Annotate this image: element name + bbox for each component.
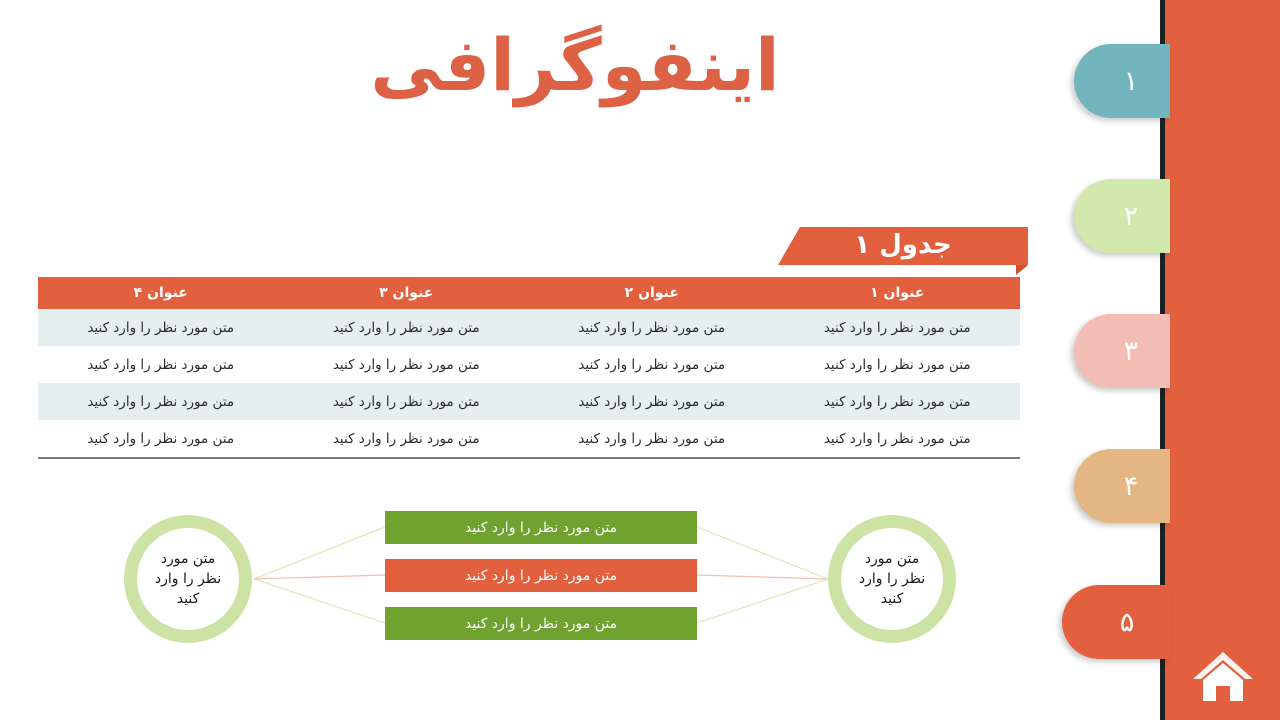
table-row: متن مورد نظر را وارد کنید متن مورد نظر ر… xyxy=(38,420,1020,458)
banner-fold-decoration xyxy=(1016,265,1028,275)
table-cell: متن مورد نظر را وارد کنید xyxy=(775,383,1021,420)
table-header: عنوان ۱ عنوان ۲ عنوان ۳ عنوان ۴ xyxy=(38,277,1020,309)
diagram-circle-left: متن مورد نظر را وارد کنید xyxy=(124,515,252,643)
sidebar-tab-3-label: ۳ xyxy=(1124,336,1139,367)
sidebar-tab-1-label: ۱ xyxy=(1124,66,1139,97)
table-banner: جدول ۱ xyxy=(778,227,1028,265)
table-column-header-1: عنوان ۱ xyxy=(775,277,1021,309)
table-cell: متن مورد نظر را وارد کنید xyxy=(38,309,284,346)
table-cell: متن مورد نظر را وارد کنید xyxy=(284,383,530,420)
table-cell: متن مورد نظر را وارد کنید xyxy=(38,383,284,420)
process-diagram: متن مورد نظر را وارد کنید متن مورد نظر ر… xyxy=(0,495,1040,675)
diagram-circle-right: متن مورد نظر را وارد کنید xyxy=(828,515,956,643)
home-icon[interactable] xyxy=(1190,648,1256,704)
sidebar-tab-5[interactable]: ۵ xyxy=(1062,585,1170,659)
slide-canvas: اینفوگرافی جدول ۱ عنوان ۱ عنوان ۲ عنوان … xyxy=(0,0,1280,720)
table-cell: متن مورد نظر را وارد کنید xyxy=(529,346,775,383)
page-title: اینفوگرافی xyxy=(0,22,1150,108)
table-column-header-4: عنوان ۴ xyxy=(38,277,284,309)
diagram-bar-1: متن مورد نظر را وارد کنید xyxy=(385,511,697,544)
sidebar-panel xyxy=(1165,0,1280,720)
table-cell: متن مورد نظر را وارد کنید xyxy=(775,420,1021,458)
table-row: متن مورد نظر را وارد کنید متن مورد نظر ر… xyxy=(38,346,1020,383)
table-row: متن مورد نظر را وارد کنید متن مورد نظر ر… xyxy=(38,309,1020,346)
table-cell: متن مورد نظر را وارد کنید xyxy=(775,309,1021,346)
sidebar-tab-2-label: ۲ xyxy=(1124,201,1139,232)
diagram-bar-3: متن مورد نظر را وارد کنید xyxy=(385,607,697,640)
table-cell: متن مورد نظر را وارد کنید xyxy=(529,420,775,458)
sidebar-tab-4-label: ۴ xyxy=(1124,471,1139,502)
table-cell: متن مورد نظر را وارد کنید xyxy=(284,420,530,458)
table-column-header-2: عنوان ۲ xyxy=(529,277,775,309)
table-cell: متن مورد نظر را وارد کنید xyxy=(38,346,284,383)
diagram-bar-2: متن مورد نظر را وارد کنید xyxy=(385,559,697,592)
table-header-row: عنوان ۱ عنوان ۲ عنوان ۳ عنوان ۴ xyxy=(38,277,1020,309)
sidebar-tab-1[interactable]: ۱ xyxy=(1074,44,1170,118)
data-table: عنوان ۱ عنوان ۲ عنوان ۳ عنوان ۴ متن مورد… xyxy=(38,277,1020,459)
table-row: متن مورد نظر را وارد کنید متن مورد نظر ر… xyxy=(38,383,1020,420)
table-cell: متن مورد نظر را وارد کنید xyxy=(284,309,530,346)
sidebar-tab-2[interactable]: ۲ xyxy=(1074,179,1170,253)
sidebar-tab-4[interactable]: ۴ xyxy=(1074,449,1170,523)
table-cell: متن مورد نظر را وارد کنید xyxy=(284,346,530,383)
sidebar-tab-5-label: ۵ xyxy=(1120,607,1135,638)
table-body: متن مورد نظر را وارد کنید متن مورد نظر ر… xyxy=(38,309,1020,458)
sidebar-tab-3[interactable]: ۳ xyxy=(1074,314,1170,388)
table-column-header-3: عنوان ۳ xyxy=(284,277,530,309)
table-cell: متن مورد نظر را وارد کنید xyxy=(529,383,775,420)
table-cell: متن مورد نظر را وارد کنید xyxy=(38,420,284,458)
table-cell: متن مورد نظر را وارد کنید xyxy=(529,309,775,346)
table-cell: متن مورد نظر را وارد کنید xyxy=(775,346,1021,383)
